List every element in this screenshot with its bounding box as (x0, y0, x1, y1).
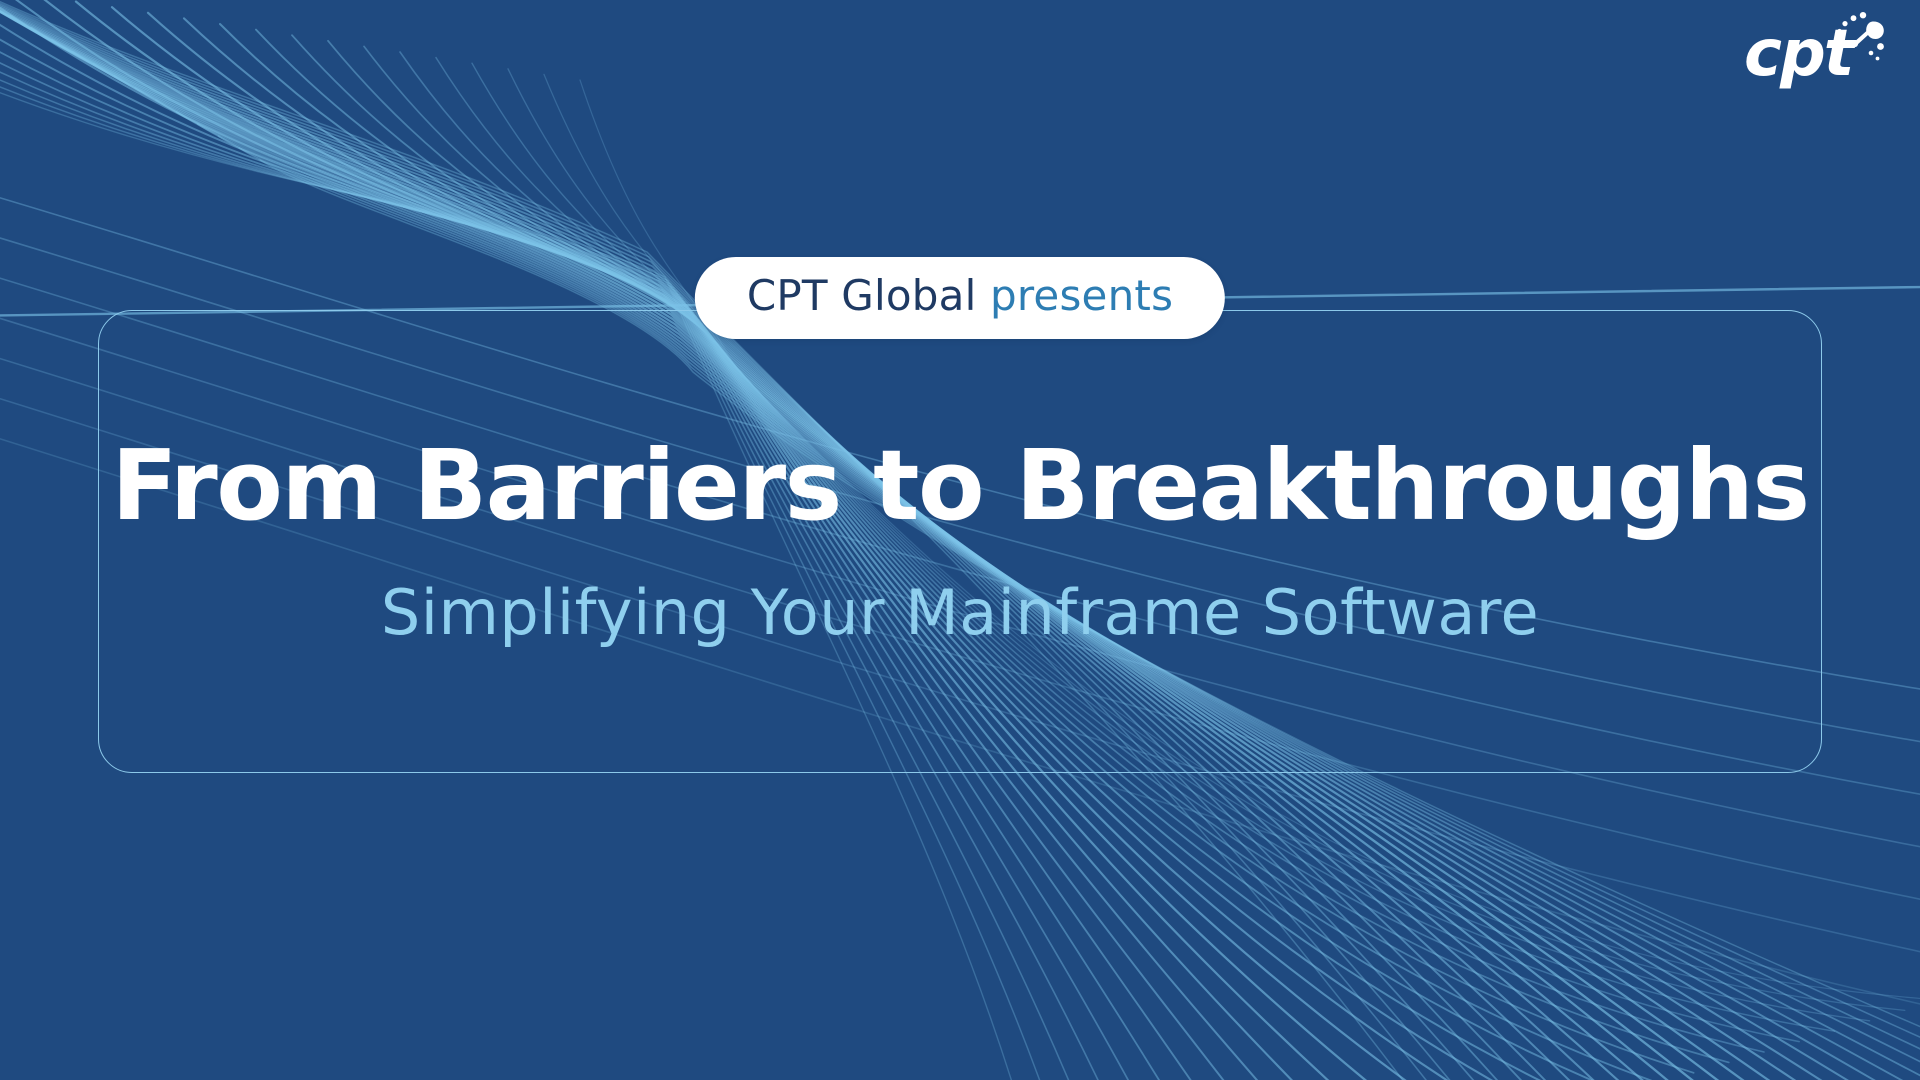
presents-badge: CPT Global presents (695, 257, 1225, 339)
page-title: From Barriers to Breakthroughs (111, 435, 1808, 537)
page-subtitle: Simplifying Your Mainframe Software (381, 579, 1539, 647)
headline-block: From Barriers to Breakthroughs Simplifyi… (98, 310, 1822, 773)
badge-action-label: presents (990, 271, 1173, 320)
title-slide: cpt From Barriers to Breakthroughs Simpl… (0, 0, 1920, 1080)
badge-brand-label: CPT Global (747, 271, 977, 320)
center-content: From Barriers to Breakthroughs Simplifyi… (0, 0, 1920, 1080)
